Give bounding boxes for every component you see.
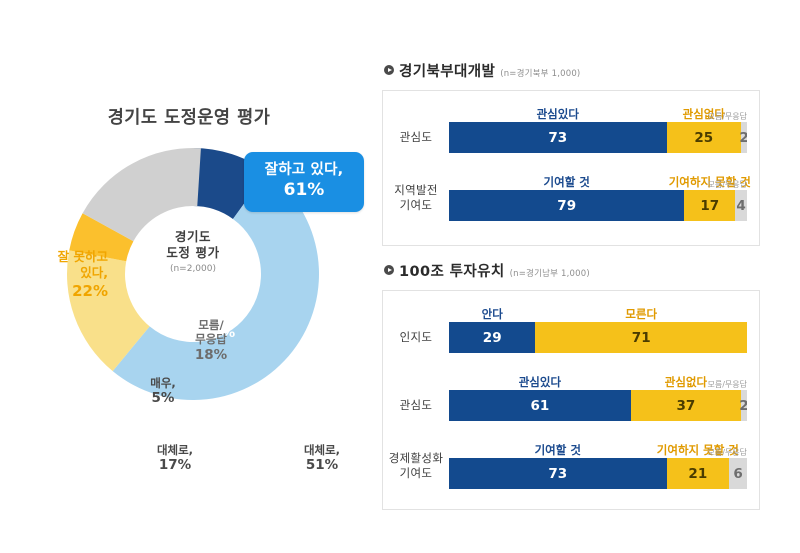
bar-row: 관심도관심있다관심없다모름/무응답61372 (383, 373, 747, 421)
bar-row: 관심도관심있다관심없다모름/무응답73252 (383, 105, 747, 153)
bar-segment-dk: 4 (735, 190, 747, 221)
bar-row-label-line1: 관심도 (400, 130, 433, 144)
callout-bad-value: 22% (16, 282, 108, 302)
bar-row-track-wrap: 안다모른다2971 (449, 305, 747, 353)
section-header: 경기북부대개발 (n=경기북부 1,000) (384, 60, 760, 81)
bar-segment-caption-pos: 관심있다 (537, 106, 579, 122)
play-bullet-icon (384, 65, 394, 75)
play-bullet-icon (384, 265, 394, 275)
bar-segment-value: 73 (548, 466, 567, 482)
bar-segment-captions: 기여할 것기여하지 못할 것모름/무응답 (449, 441, 747, 458)
bar-segment-pos: 73 (449, 122, 667, 153)
bar-row: 경제활성화기여도기여할 것기여하지 못할 것모름/무응답73216 (383, 441, 747, 489)
bar-row-label: 지역발전기여도 (383, 183, 449, 221)
slice-label-text: 대체로, (287, 443, 357, 457)
bar-row-label: 관심도 (383, 130, 449, 153)
bar-segment-neg: 37 (631, 390, 741, 421)
bar-segment-caption-pos: 관심있다 (519, 374, 561, 390)
bar-segment-captions: 관심있다관심없다모름/무응답 (449, 105, 747, 122)
section-north-development: 경기북부대개발 (n=경기북부 1,000) 관심도관심있다관심없다모름/무응답… (382, 60, 760, 246)
bar-row-label-line1: 인지도 (400, 330, 433, 344)
bar-segment-value: 73 (548, 130, 567, 146)
bar-segment-value: 17 (700, 198, 719, 214)
bar-segment-neg: 71 (535, 322, 747, 353)
bar-segment-caption-pos: 기여할 것 (544, 174, 590, 190)
slice-label-value: 51% (287, 457, 357, 474)
bar-segment-caption-pos: 안다 (482, 306, 503, 322)
bar-chart-panel: 관심도관심있다관심없다모름/무응답73252지역발전기여도기여할 것기여하지 못… (382, 90, 760, 246)
bar-segment-value: 79 (557, 198, 576, 214)
bar-segment-value: 21 (688, 466, 707, 482)
row-spacer (383, 153, 747, 173)
slice-label-text: 대체로, (140, 443, 210, 457)
callout-positive-total: 잘하고 있다, 61% (244, 152, 364, 212)
bar-segment-neg: 21 (667, 458, 730, 489)
bar-segment-pos: 29 (449, 322, 535, 353)
bar-segment-pos: 73 (449, 458, 667, 489)
bar-segment-caption-dk: 모름/무응답 (708, 447, 748, 458)
bar-chart-panel: 인지도안다모른다2971관심도관심있다관심없다모름/무응답61372경제활성화기… (382, 290, 760, 510)
bar-row-track-wrap: 관심있다관심없다모름/무응답61372 (449, 373, 747, 421)
donut-chart-title: 경기도 도정운영 평가 (0, 104, 378, 129)
section-investment: 100조 투자유치 (n=경기남부 1,000) 인지도안다모른다2971관심도… (382, 260, 760, 510)
callout-negative-total: 잘 못하고 있다, 22% (16, 249, 108, 301)
row-spacer (383, 421, 747, 441)
section-title: 경기북부대개발 (399, 60, 495, 81)
section-header: 100조 투자유치 (n=경기남부 1,000) (384, 260, 760, 281)
bar-segment-value: 29 (483, 330, 502, 346)
callout-bad-line1: 잘 못하고 (58, 249, 108, 264)
stacked-bar: 73216 (449, 458, 747, 489)
bar-row-label-line2: 기여도 (400, 466, 433, 480)
bar-row-label-line2: 기여도 (400, 198, 433, 212)
callout-bad-line2: 있다, (80, 265, 108, 280)
evaluation-donut-chart: 경기도 도정운영 평가 경기도 도정 평가 (n=2,000) 매우, 10% … (0, 0, 378, 553)
stacked-bar: 2971 (449, 322, 747, 353)
bar-segment-neg: 25 (667, 122, 742, 153)
section-title: 100조 투자유치 (399, 260, 505, 281)
section-sample-size: (n=경기북부 1,000) (500, 67, 580, 79)
bar-segment-value: 71 (632, 330, 651, 346)
bar-segment-dk: 6 (729, 458, 747, 489)
stacked-bar: 61372 (449, 390, 747, 421)
bar-segment-dk: 2 (741, 122, 747, 153)
bar-segment-captions: 기여할 것기여하지 못할 것모름/무응답 (449, 173, 747, 190)
bar-segment-caption-dk: 모름/무응답 (708, 179, 748, 190)
bar-segment-caption-pos: 기여할 것 (535, 442, 581, 458)
bar-row: 지역발전기여도기여할 것기여하지 못할 것모름/무응답79174 (383, 173, 747, 221)
row-spacer (383, 353, 747, 373)
bar-segment-value: 37 (676, 398, 695, 414)
bar-row-label: 경제활성화기여도 (383, 451, 449, 489)
bar-segment-value: 2 (739, 398, 747, 414)
bar-segment-captions: 관심있다관심없다모름/무응답 (449, 373, 747, 390)
donut-label-mostly-good: 대체로, 51% (287, 443, 357, 474)
bar-row-track-wrap: 기여할 것기여하지 못할 것모름/무응답73216 (449, 441, 747, 489)
bar-row-label-line1: 관심도 (400, 398, 433, 412)
bar-segment-caption-dk: 모름/무응답 (708, 379, 748, 390)
callout-good-label: 잘하고 있다, (250, 161, 358, 179)
bar-segment-caption-neg: 모른다 (625, 306, 657, 322)
bar-segment-value: 2 (739, 130, 747, 146)
bar-segment-dk: 2 (741, 390, 747, 421)
bar-segment-neg: 17 (684, 190, 735, 221)
stacked-bar: 73252 (449, 122, 747, 153)
bar-segment-value: 4 (736, 198, 745, 214)
section-sample-size: (n=경기남부 1,000) (510, 267, 590, 279)
bar-row-label-line1: 지역발전 (394, 183, 438, 197)
bar-row-track-wrap: 기여할 것기여하지 못할 것모름/무응답79174 (449, 173, 747, 221)
bar-row-track-wrap: 관심있다관심없다모름/무응답73252 (449, 105, 747, 153)
callout-good-value: 61% (250, 180, 358, 201)
bar-row-label: 관심도 (383, 398, 449, 421)
bar-segment-captions: 안다모른다 (449, 305, 747, 322)
bar-segment-value: 6 (733, 466, 742, 482)
bar-segment-value: 61 (530, 398, 549, 414)
bar-segment-pos: 61 (449, 390, 631, 421)
bar-row-label-line1: 경제활성화 (389, 451, 443, 465)
bar-row: 인지도안다모른다2971 (383, 305, 747, 353)
stacked-bar: 79174 (449, 190, 747, 221)
bar-segment-caption-neg: 관심없다 (665, 374, 707, 390)
bar-segment-caption-dk: 모름/무응답 (708, 111, 748, 122)
slice-label-value: 17% (140, 457, 210, 474)
donut-label-mostly-bad: 대체로, 17% (140, 443, 210, 474)
bar-row-label: 인지도 (383, 330, 449, 353)
bar-segment-pos: 79 (449, 190, 684, 221)
bar-segment-value: 25 (694, 130, 713, 146)
